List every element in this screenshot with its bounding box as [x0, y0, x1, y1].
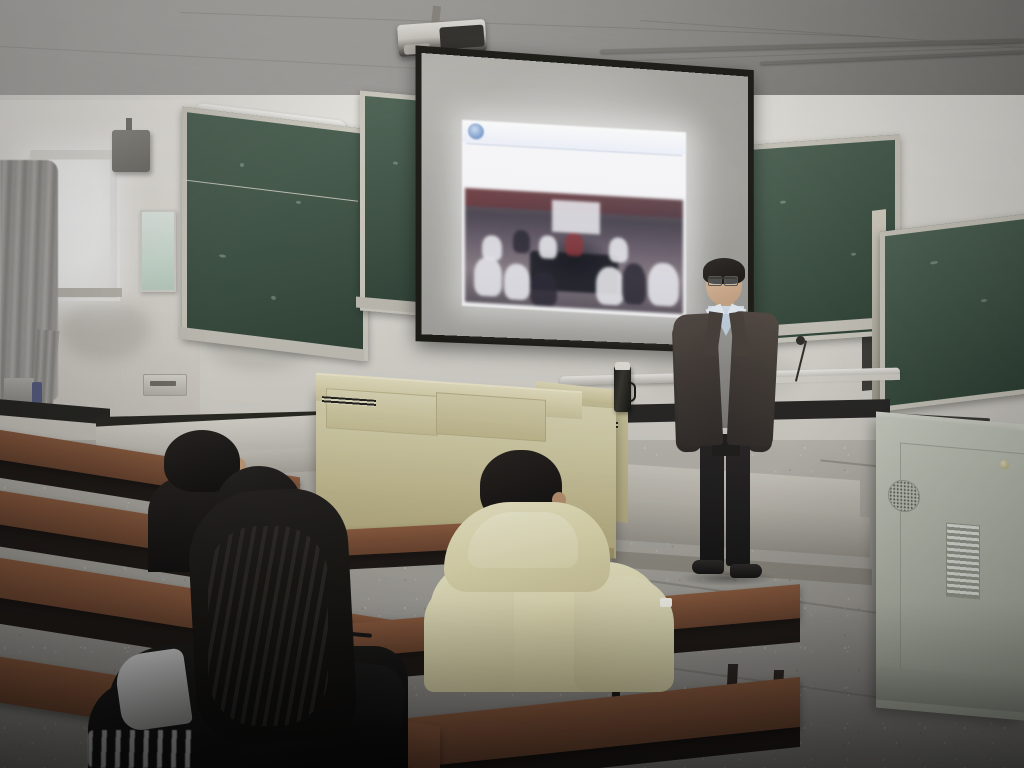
student-hoodie	[424, 450, 674, 700]
chalkboard-left	[182, 107, 368, 362]
thermos-cap	[615, 362, 630, 370]
speaker-icon	[112, 130, 150, 172]
microphone-icon	[796, 336, 805, 345]
student-long-hair	[88, 466, 408, 768]
window-header	[30, 150, 116, 159]
hoodie-tag	[660, 598, 672, 607]
student-hair-strands	[208, 526, 328, 726]
cabinet-vent-icon	[946, 523, 980, 600]
slide-photo-screen	[552, 200, 600, 235]
glasses-bridge	[707, 277, 737, 286]
lectern-drawer[interactable]	[436, 392, 546, 442]
lectern-drawer[interactable]	[326, 388, 438, 436]
slide-body-text	[468, 147, 680, 195]
wall-vent-slot	[150, 381, 176, 386]
jacket-print	[88, 730, 198, 768]
chalkboard-far-right	[880, 212, 1024, 412]
hoodie-hood-fold	[468, 512, 578, 568]
lock-icon[interactable]	[1000, 460, 1009, 470]
slide-photo	[465, 188, 683, 314]
presenter-right-leg	[726, 438, 750, 566]
student-inner-collar	[113, 647, 193, 732]
slide-logo-icon	[468, 123, 484, 140]
wall-notice	[140, 210, 176, 292]
student-shoulder	[424, 582, 514, 692]
classroom-lecture-photo	[0, 0, 1024, 768]
projected-slide	[462, 120, 686, 319]
presenter-right-shoe	[730, 564, 762, 578]
wall-smudge	[60, 300, 150, 360]
presenter-left-shoe	[692, 560, 724, 574]
thermos-handle	[628, 382, 636, 402]
student-shoulder	[574, 576, 674, 692]
presenter-left-leg	[700, 438, 724, 566]
projector-body-shadow	[439, 24, 484, 49]
presenter	[668, 262, 780, 592]
